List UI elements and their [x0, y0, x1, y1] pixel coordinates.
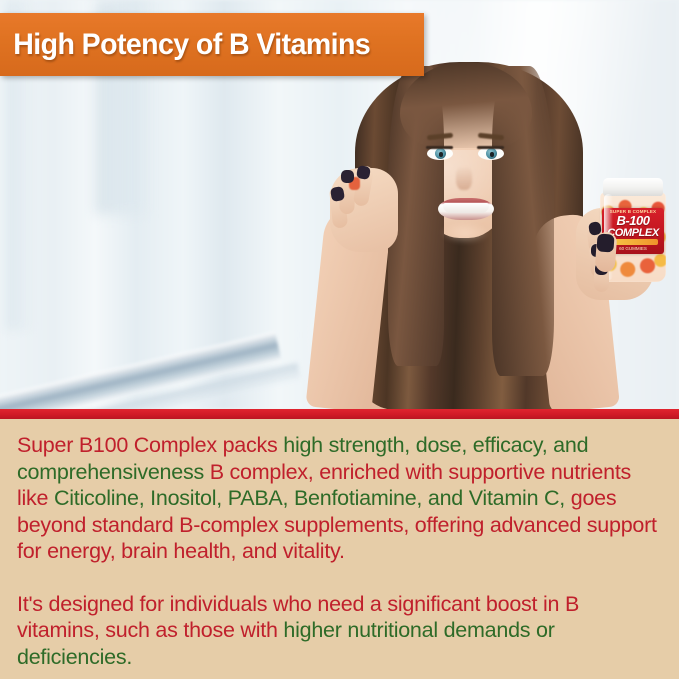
text-run-red: Super B100 Complex packs: [17, 433, 283, 457]
pupil-left: [439, 152, 444, 157]
jar-lid: [603, 178, 663, 196]
eyelash-right: [477, 146, 504, 149]
product-infographic: SUPER B COMPLEX B-100 COMPLEX 60 GUMMIES…: [0, 0, 679, 679]
iris-left: [435, 148, 446, 159]
eyelash-left: [426, 146, 453, 149]
iris-right: [486, 148, 497, 159]
section-divider: [0, 409, 679, 419]
nose: [456, 166, 472, 190]
page-title: High Potency of B Vitamins: [0, 28, 370, 62]
description-panel: Super B100 Complex packs high strength, …: [0, 419, 679, 679]
text-run-green: Citicoline, Inositol, PABA, Benfotiamine…: [54, 486, 571, 510]
paragraph-1: Super B100 Complex packs high strength, …: [17, 432, 659, 565]
chin-highlight: [440, 222, 490, 244]
fingernail-thumb-right: [596, 233, 614, 252]
pupil-right: [490, 152, 495, 157]
header-banner: High Potency of B Vitamins: [0, 13, 424, 76]
teeth: [443, 203, 489, 213]
fingernail-left-2: [341, 170, 354, 183]
paragraph-2: It's designed for individuals who need a…: [17, 591, 659, 671]
